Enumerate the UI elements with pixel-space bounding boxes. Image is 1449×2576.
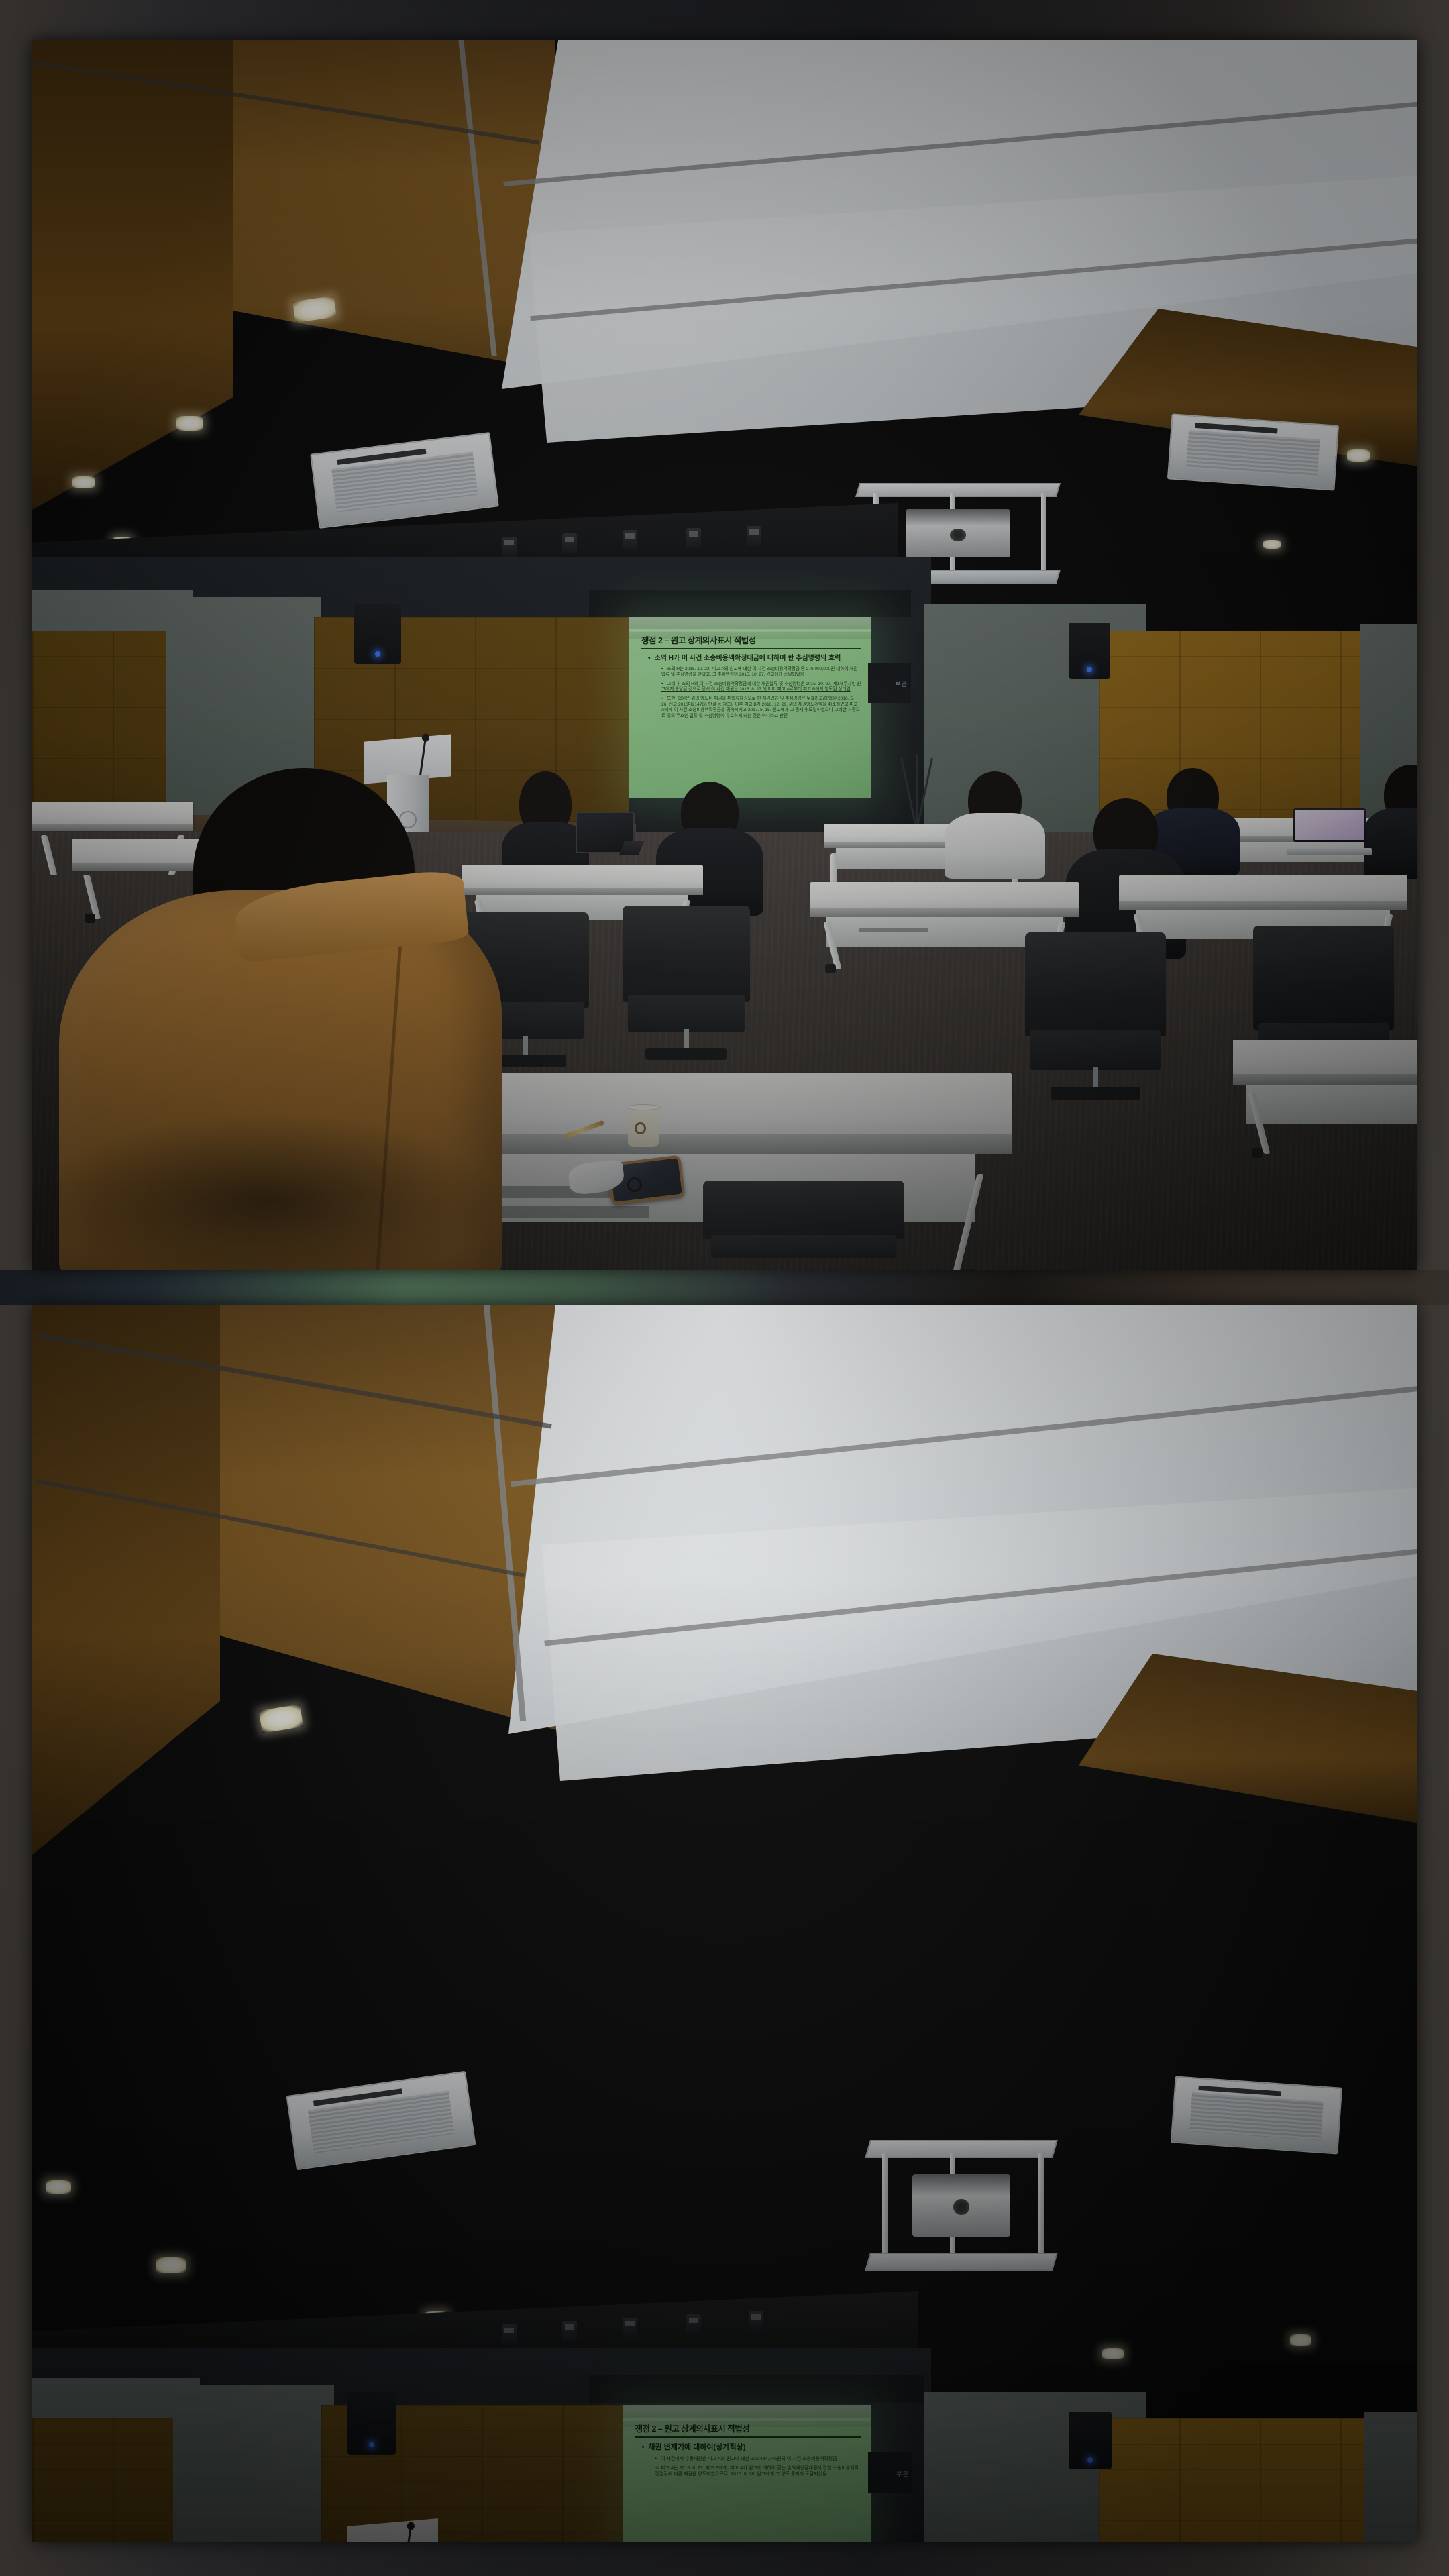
slide-subbullet-2: 그러나, 소외 H의 이 사건 소송비용액확정금에 대한 채권압류 및 추심명령… bbox=[661, 682, 861, 693]
ceiling-wood-panel-left bbox=[32, 40, 233, 510]
slide-title-b: 쟁점 2 – 원고 상계의사표시 적법성 bbox=[635, 2422, 861, 2438]
slide-subbullet-b1: 이 사건에서 수동채권은 피고 A의 원고에 대한 332,484,745원의 … bbox=[655, 2456, 861, 2462]
camera-tripod-b bbox=[898, 2532, 939, 2542]
screen-notch-tag-b: 부관 bbox=[896, 2469, 909, 2478]
slide-title: 쟁점 2 – 원고 상계의사표시 적법성 bbox=[641, 633, 861, 649]
wall-wood-right-b bbox=[1099, 2418, 1387, 2542]
stage-spotlight-b1 bbox=[502, 2324, 517, 2345]
foreground-woman bbox=[59, 768, 502, 1270]
ceiling-downlight-2 bbox=[176, 416, 203, 431]
laptop-open[interactable] bbox=[1293, 808, 1366, 855]
slide-bullet-1: 소외 H가 이 사건 소송비용액확정대금에 대하여 한 추심명령의 효력 bbox=[648, 655, 861, 663]
ceiling-ac-cassette-left bbox=[310, 432, 499, 529]
ceiling-projector-b bbox=[867, 2140, 1055, 2271]
tripod-head bbox=[912, 738, 924, 749]
podium-top-b bbox=[347, 2518, 438, 2542]
wall-speaker-left-b bbox=[347, 2392, 396, 2455]
ceiling-downlight-b6 bbox=[1290, 2334, 1311, 2346]
ceiling-downlight-b3 bbox=[46, 2180, 71, 2194]
attendee-white-shirt bbox=[945, 771, 1045, 879]
photo-panel-top[interactable]: 쟁점 2 – 원고 상계의사표시 적법성 소외 H가 이 사건 소송비용액확정대… bbox=[32, 40, 1417, 1270]
screen-side-notch-b: 부관 bbox=[868, 2452, 912, 2493]
photo-panel-bottom[interactable]: 쟁점 2 – 원고 상계의사표시 적법성 채권 변제기에 대하여(상계적상) 이… bbox=[32, 1305, 1417, 2542]
wall-wood-left-b bbox=[32, 2418, 193, 2542]
screen-notch-tag: 부관 bbox=[895, 680, 908, 688]
stage-spotlight-b5 bbox=[749, 2311, 763, 2331]
screen-side-notch: 부관 bbox=[868, 663, 911, 703]
ceiling-wood-panel-left-b bbox=[32, 1305, 220, 1855]
slide-content-bottom: 쟁점 2 – 원고 상계의사표시 적법성 채권 변제기에 대하여(상계적상) 이… bbox=[635, 2422, 861, 2542]
slide-subbullet-1: 소외 H는 2015. 10. 22. 피고 A의 원고에 대한 이 사건 소송… bbox=[661, 667, 861, 678]
chair-foreground[interactable] bbox=[703, 1181, 904, 1270]
slide-subbullet-3: 또한, 법원은 위의 양도된 채권을 피압류채권으로 한 채권압류 및 추심명령… bbox=[661, 696, 861, 719]
stage-spotlight-3 bbox=[623, 530, 637, 550]
screen-shadow-band-b1 bbox=[623, 2405, 871, 2418]
stage-spotlight-2 bbox=[562, 533, 577, 553]
attendee-laptop-user bbox=[1364, 765, 1417, 879]
ceiling-downlight-7 bbox=[1263, 540, 1281, 549]
ceiling-ac-cassette-right bbox=[1167, 413, 1339, 490]
ceiling-downlight-3 bbox=[72, 476, 95, 488]
stage-spotlight-b4 bbox=[686, 2314, 701, 2334]
slide-content-top: 쟁점 2 – 원고 상계의사표시 적법성 소외 H가 이 사건 소송비용액확정대… bbox=[641, 633, 861, 788]
projection-screen[interactable]: 쟁점 2 – 원고 상계의사표시 적법성 소외 H가 이 사건 소송비용액확정대… bbox=[629, 617, 871, 798]
ceiling-downlight-b5 bbox=[1102, 2348, 1124, 2359]
slide-subbullet-b2: ㅇ 피고 A는 2015. 8. 27. 피고 B에게, 피고 A가 원고에 대… bbox=[655, 2465, 861, 2477]
wall-speaker-left bbox=[354, 604, 401, 664]
stage-spotlight-b3 bbox=[623, 2318, 637, 2338]
projection-screen-housing bbox=[589, 590, 911, 617]
ceiling-ac-cassette-left-b bbox=[286, 2071, 476, 2170]
slide-bullet-b1: 채권 변제기에 대하여(상계적상) bbox=[642, 2443, 861, 2453]
wall-speaker-right bbox=[1069, 623, 1110, 679]
stage-spotlight-5 bbox=[747, 526, 761, 546]
ceiling-downlight-4 bbox=[1347, 449, 1370, 462]
ceiling-ac-cassette-right-b bbox=[1171, 2076, 1342, 2154]
ceiling-downlight-b1 bbox=[259, 1704, 304, 1733]
chair-mid-3[interactable] bbox=[1025, 932, 1166, 1100]
wall-green-center-b bbox=[173, 2385, 334, 2542]
wall-green-far-right-b bbox=[1364, 2412, 1417, 2542]
tablet-device[interactable] bbox=[576, 812, 635, 853]
chair-mid-2[interactable] bbox=[623, 906, 750, 1060]
tripod-head-b bbox=[912, 2532, 924, 2542]
stage-spotlight-1 bbox=[502, 537, 517, 557]
stage-spotlight-b2 bbox=[562, 2321, 577, 2341]
wall-speaker-right-b bbox=[1069, 2412, 1112, 2469]
projection-screen-b[interactable]: 쟁점 2 – 원고 상계의사표시 적법성 채권 변제기에 대하여(상계적상) 이… bbox=[623, 2405, 871, 2542]
stage-spotlight-4 bbox=[686, 528, 701, 548]
panel-gap-strip bbox=[0, 1270, 1449, 1305]
screen-shadow-band-1 bbox=[629, 617, 871, 629]
paper-coffee-cup[interactable] bbox=[628, 1107, 659, 1147]
podium-lectern-b[interactable] bbox=[347, 2522, 438, 2542]
ceiling-downlight-b2 bbox=[156, 2257, 186, 2273]
table-front-right[interactable] bbox=[1233, 1040, 1417, 1154]
collage-frame: 쟁점 2 – 원고 상계의사표시 적법성 소외 H가 이 사건 소송비용액확정대… bbox=[0, 0, 1449, 2576]
projection-screen-housing-b bbox=[589, 2375, 924, 2403]
